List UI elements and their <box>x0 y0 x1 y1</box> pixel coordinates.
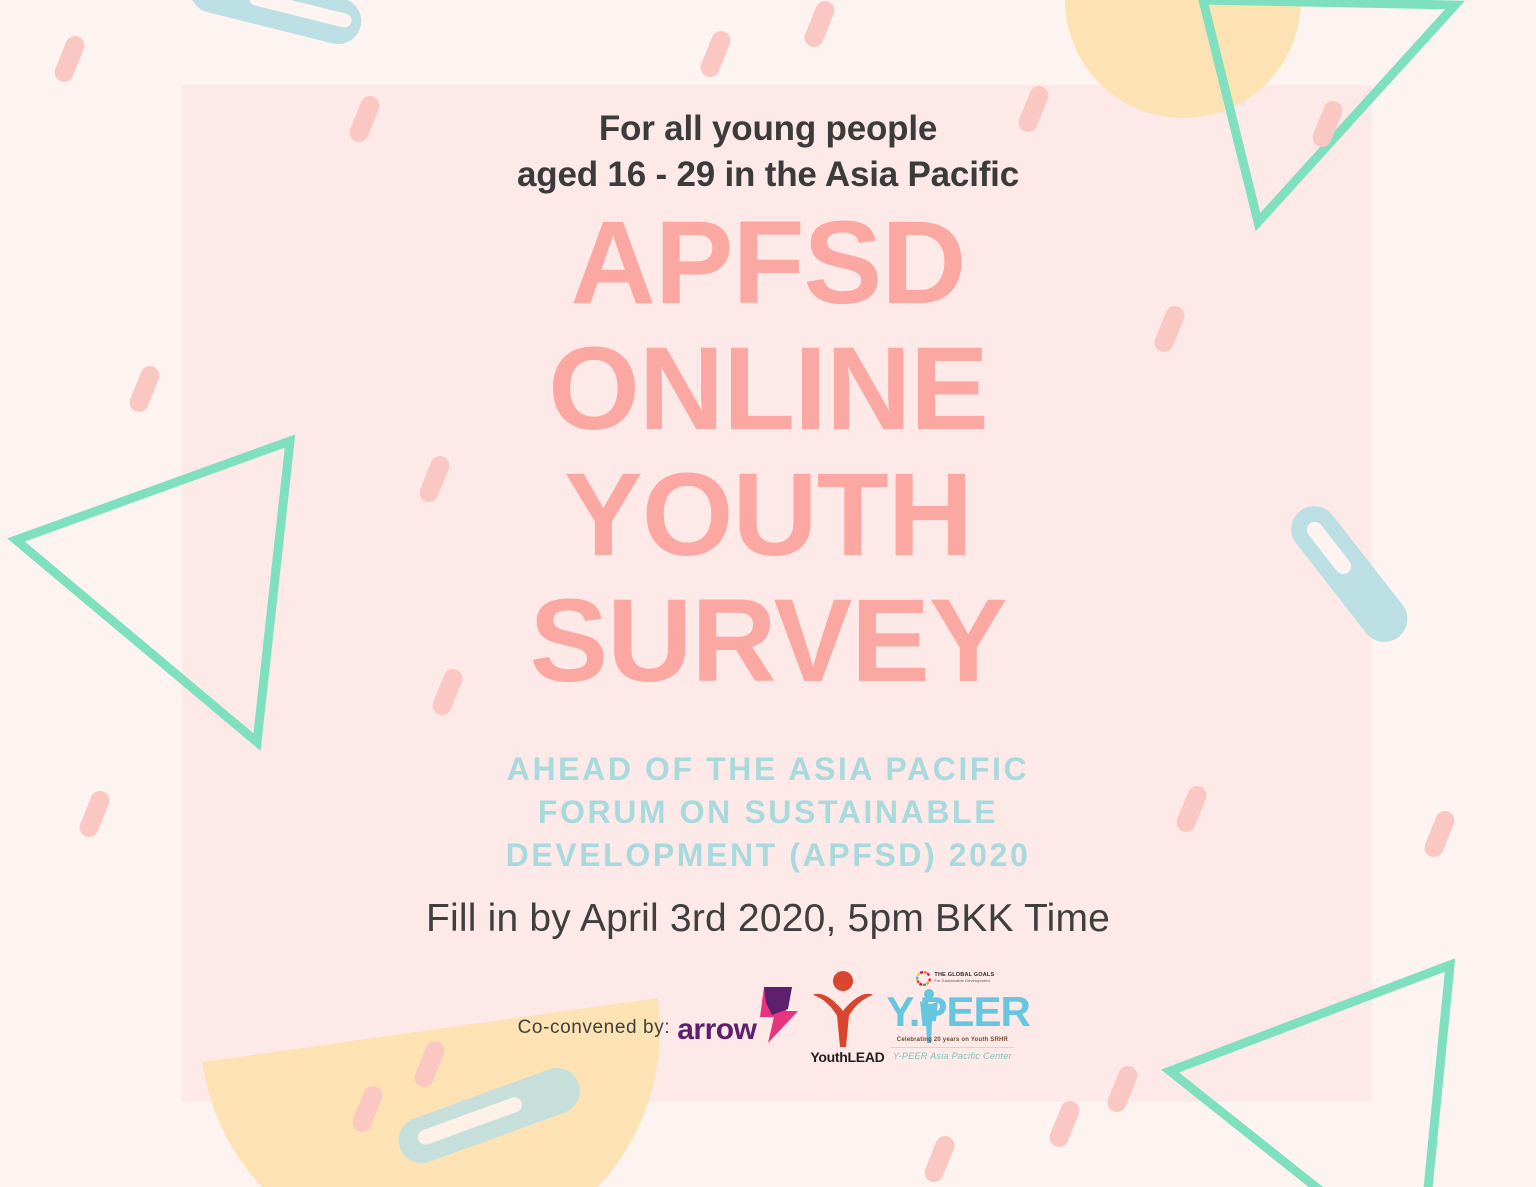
kicker-line-2: aged 16 - 29 in the Asia Pacific <box>0 152 1536 198</box>
arrow-wordmark: arrow <box>677 1015 756 1045</box>
co-convened-label: Co-convened by: <box>518 1017 678 1065</box>
poster-content: For all young people aged 16 - 29 in the… <box>0 0 1536 1187</box>
ypeer-divider <box>890 1047 1014 1048</box>
headline-line-4: SURVEY <box>0 578 1536 704</box>
subtitle-text: AHEAD OF THE ASIA PACIFIC FORUM ON SUSTA… <box>0 748 1536 877</box>
headline-line-3: YOUTH <box>0 452 1536 578</box>
ypeer-tagline: Celebrating 20 years on Youth SRHR <box>886 1037 1018 1043</box>
credits-row: Co-convened by: arrow YouthLEA <box>0 965 1536 1065</box>
global-goals-subtitle: For Sustainable Development <box>934 978 994 984</box>
headline-line-2: ONLINE <box>0 326 1536 452</box>
page-title: APFSD ONLINE YOUTH SURVEY <box>0 200 1536 704</box>
logo-youthlead: YouthLEAD <box>810 969 876 1065</box>
kicker-line-1: For all young people <box>599 109 937 148</box>
poster-canvas: For all young people aged 16 - 29 in the… <box>0 0 1536 1187</box>
deadline-text: Fill in by April 3rd 2020, 5pm BKK Time <box>0 895 1536 943</box>
arrow-mark-icon <box>758 985 804 1045</box>
logo-ypeer: THE GLOBAL GOALS For Sustainable Develop… <box>886 967 1018 1065</box>
global-goals-text: THE GLOBAL GOALS For Sustainable Develop… <box>934 972 994 984</box>
subtitle-line-1: AHEAD OF THE ASIA PACIFIC <box>0 748 1536 791</box>
youthlead-figure-icon <box>810 969 876 1049</box>
subtitle-line-3: DEVELOPMENT (APFSD) 2020 <box>0 834 1536 877</box>
subtitle-line-2: FORUM ON SUSTAINABLE <box>0 791 1536 834</box>
global-goals-badge: THE GLOBAL GOALS For Sustainable Develop… <box>916 967 1016 989</box>
kicker-text: For all young people aged 16 - 29 in the… <box>0 106 1536 198</box>
logo-arrow: arrow <box>677 985 804 1065</box>
ypeer-wordmark: Y.PEER <box>886 991 1018 1033</box>
global-goals-wheel-icon <box>916 971 931 986</box>
youthlead-wordmark: YouthLEAD <box>810 1049 876 1065</box>
ypeer-subtitle: Y-PEER Asia Pacific Center <box>886 1051 1018 1061</box>
headline-line-1: APFSD <box>0 200 1536 326</box>
